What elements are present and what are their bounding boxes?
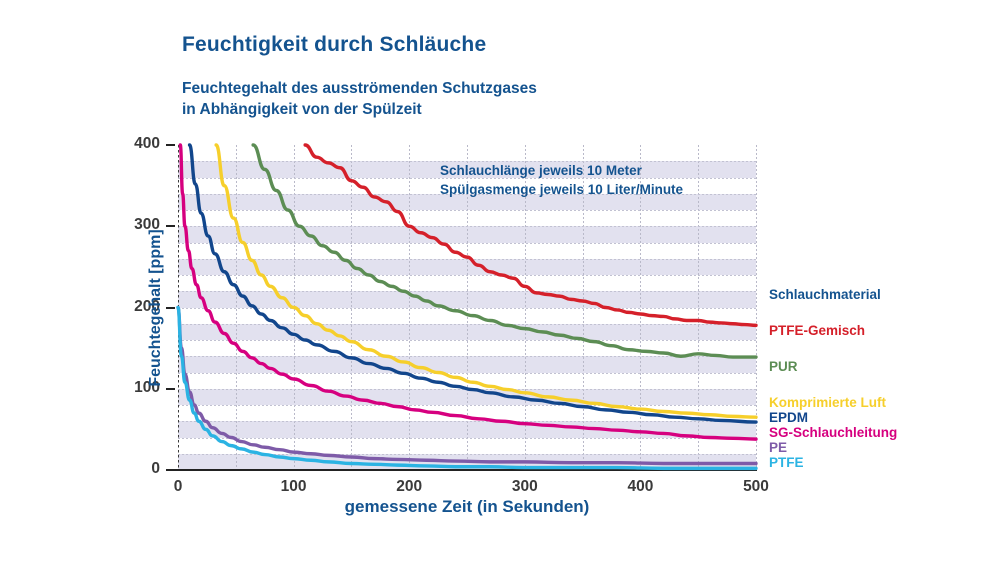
y-axis-title: Feuchtegehalt [ppm] bbox=[147, 229, 165, 386]
legend-item-komprimierte-luft: Komprimierte Luft bbox=[769, 395, 994, 410]
chart-page: Feuchtigkeit durch Schläuche Feuchtegeha… bbox=[0, 0, 1000, 583]
legend-item-pe: PE bbox=[769, 440, 994, 455]
y-tick bbox=[166, 307, 175, 309]
x-tick-label: 0 bbox=[148, 478, 208, 496]
legend-item-epdm: EPDM bbox=[769, 410, 994, 425]
plot-area: 0100200300400 0100200300400500 Feuchtege… bbox=[178, 145, 756, 470]
y-tick bbox=[166, 225, 175, 227]
x-axis-title: gemessene Zeit (in Sekunden) bbox=[345, 497, 590, 517]
legend-item-ptfe-gemisch: PTFE-Gemisch bbox=[769, 323, 994, 338]
y-tick bbox=[166, 144, 175, 146]
page-subtitle: Feuchtegehalt des ausströmenden Schutzga… bbox=[182, 78, 537, 120]
legend: Schlauchmaterial PTFE-GemischPURKomprimi… bbox=[769, 287, 994, 470]
x-tick-label: 300 bbox=[495, 478, 555, 496]
y-tick bbox=[166, 469, 175, 471]
legend-heading: Schlauchmaterial bbox=[769, 287, 994, 302]
legend-items: PTFE-GemischPURKomprimierte LuftEPDMSG-S… bbox=[769, 323, 994, 470]
x-tick-label: 400 bbox=[610, 478, 670, 496]
x-tick-label: 500 bbox=[726, 478, 786, 496]
y-tick-label: 0 bbox=[108, 460, 160, 478]
legend-item-sg-schlauchleitung: SG-Schlauchleitung bbox=[769, 425, 994, 440]
legend-item-pur: PUR bbox=[769, 359, 994, 374]
series-line-pe bbox=[178, 308, 756, 464]
y-tick-label: 400 bbox=[108, 135, 160, 153]
legend-item-ptfe: PTFE bbox=[769, 455, 994, 470]
y-tick bbox=[166, 388, 175, 390]
x-tick-label: 100 bbox=[264, 478, 324, 496]
x-tick-label: 200 bbox=[379, 478, 439, 496]
page-title: Feuchtigkeit durch Schläuche bbox=[182, 33, 486, 57]
chart-annotation: Schlauchlänge jeweils 10 Meter Spülgasme… bbox=[440, 161, 683, 199]
